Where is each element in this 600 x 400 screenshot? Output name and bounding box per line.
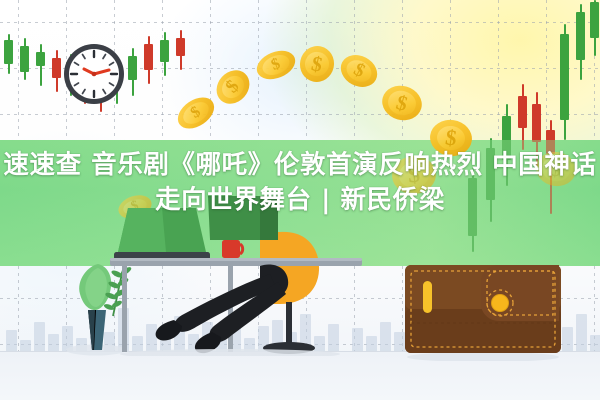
backdrop-bar: [48, 334, 59, 352]
gold-coin-icon: $: [297, 43, 338, 85]
headline: 速速查 音乐剧《哪吒》伦敦首演反响热烈 中国神话 走向世界舞台 | 新民侨梁: [0, 150, 600, 216]
gold-coin-icon: $: [335, 49, 383, 93]
gold-coin-icon: $: [378, 81, 426, 125]
desk-workspace: [110, 196, 370, 356]
backdrop-bar: [6, 330, 17, 352]
headline-line-1: 速速查 音乐剧《哪吒》伦敦首演反响热烈 中国神话: [0, 150, 600, 181]
backdrop-bar: [576, 314, 587, 352]
leather-wallet: [403, 263, 563, 361]
gold-coin-icon: $: [172, 91, 220, 135]
gold-coin-icon: $: [210, 64, 256, 111]
backdrop-bar: [562, 327, 573, 352]
gold-coin-icon: $: [253, 45, 300, 84]
backdrop-bar: [34, 322, 45, 352]
headline-line-2: 走向世界舞台 | 新民侨梁: [0, 185, 600, 216]
backdrop-bar: [380, 322, 391, 352]
backdrop-bar: [590, 335, 600, 352]
news-thumbnail-image: $$$$$$$$$$: [0, 0, 600, 400]
